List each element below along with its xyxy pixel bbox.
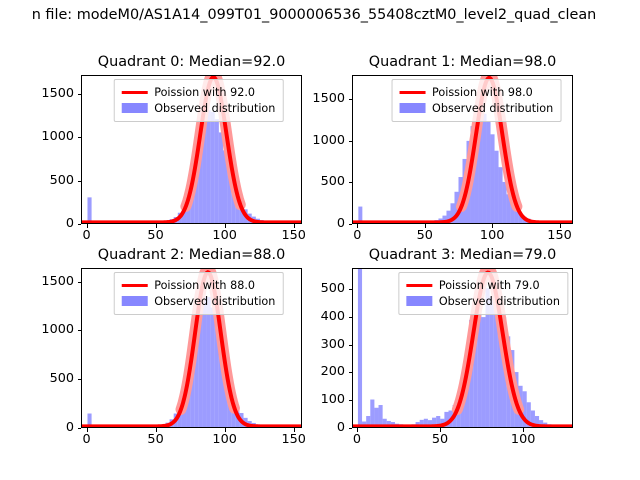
x-tick-label: 100 [480, 229, 504, 243]
histogram-bar [487, 121, 491, 223]
legend-entry-observed-0: Observed distribution [121, 100, 275, 116]
legend-patch-icon [406, 296, 432, 306]
subplot-quadrant-1: Quadrant 1: Median=98.0 Poission with 98… [352, 75, 573, 224]
x-tick-label: 100 [212, 433, 236, 447]
x-tick-label: 150 [281, 433, 305, 447]
legend-0: Poission with 92.0 Observed distribution [113, 79, 283, 122]
histogram-bar [374, 408, 378, 427]
histogram-bar [215, 119, 219, 223]
x-tick-label: 50 [147, 229, 163, 243]
y-tick-mark [78, 94, 82, 95]
y-tick-mark [349, 99, 353, 100]
legend-entry-fit-0: Poission with 92.0 [121, 84, 275, 100]
histogram-bar [211, 308, 215, 427]
y-tick-label: 0 [66, 421, 74, 435]
y-tick-label: 500 [50, 174, 74, 188]
legend-entry-observed-1: Observed distribution [399, 100, 553, 116]
y-tick-label: 0 [337, 217, 345, 231]
legend-patch-icon [121, 103, 147, 113]
histogram-bar [207, 297, 211, 427]
x-tick-mark [225, 224, 226, 228]
x-tick-label: 0 [82, 229, 90, 243]
x-tick-label: 150 [281, 229, 305, 243]
y-tick-label: 400 [321, 310, 345, 324]
x-tick-mark [156, 224, 157, 228]
legend-entry-observed-2: Observed distribution [121, 293, 275, 309]
legend-entry-fit-1: Poission with 98.0 [399, 84, 553, 100]
legend-1: Poission with 98.0 Observed distribution [391, 79, 561, 122]
y-tick-label: 1000 [312, 134, 345, 148]
x-tick-label: 0 [353, 433, 361, 447]
legend-line-icon [406, 284, 432, 287]
legend-label-observed-1: Observed distribution [432, 101, 553, 116]
subplot-quadrant-0: Quadrant 0: Median=92.0 Poission with 92… [81, 75, 302, 224]
y-tick-mark [349, 400, 353, 401]
legend-label-fit-2: Poission with 88.0 [154, 278, 255, 293]
legend-line-icon [399, 91, 425, 94]
x-tick-mark [425, 224, 426, 228]
y-tick-mark [78, 330, 82, 331]
y-tick-mark [349, 141, 353, 142]
y-tick-label: 1500 [312, 92, 345, 106]
x-tick-mark [156, 428, 157, 432]
figure-suptitle-text: n file: modeM0/AS1A14_099T01_9000006536_… [32, 6, 597, 24]
legend-label-fit-1: Poission with 98.0 [432, 85, 533, 100]
histogram-bar [379, 405, 383, 427]
x-tick-mark [87, 428, 88, 432]
histogram-bar [211, 112, 215, 223]
y-tick-mark [78, 137, 82, 138]
y-tick-mark [349, 345, 353, 346]
x-tick-mark [357, 224, 358, 228]
y-tick-mark [349, 317, 353, 318]
y-tick-label: 200 [321, 365, 345, 379]
y-tick-mark [78, 379, 82, 380]
x-tick-mark [225, 428, 226, 432]
histogram-bar [490, 296, 494, 427]
legend-line-icon [121, 91, 147, 94]
y-tick-label: 1000 [41, 130, 74, 144]
histogram-bar [202, 296, 206, 427]
histogram-bar [87, 197, 91, 223]
y-tick-mark [78, 282, 82, 283]
y-tick-label: 500 [321, 282, 345, 296]
y-tick-mark [349, 182, 353, 183]
x-tick-label: 100 [212, 229, 236, 243]
legend-label-observed-2: Observed distribution [154, 294, 275, 309]
legend-label-observed-0: Observed distribution [154, 101, 275, 116]
figure-suptitle: n file: modeM0/AS1A14_099T01_9000006536_… [0, 6, 640, 24]
legend-label-fit-0: Poission with 92.0 [154, 85, 255, 100]
histogram-bar [495, 151, 499, 223]
y-tick-mark [78, 428, 82, 429]
legend-patch-icon [121, 296, 147, 306]
legend-patch-icon [399, 103, 425, 113]
y-tick-mark [78, 181, 82, 182]
subplot-title-2: Quadrant 2: Median=88.0 [81, 247, 302, 263]
histogram-bar [219, 132, 223, 223]
y-tick-mark [349, 289, 353, 290]
axes-frame-3: Poission with 79.0 Observed distribution [352, 268, 573, 428]
legend-entry-observed-3: Observed distribution [406, 293, 560, 309]
y-tick-label: 300 [321, 338, 345, 352]
x-tick-mark [294, 224, 295, 228]
legend-entry-fit-2: Poission with 88.0 [121, 277, 275, 293]
y-tick-label: 500 [321, 175, 345, 189]
legend-entry-fit-3: Poission with 79.0 [406, 277, 560, 293]
x-tick-label: 50 [147, 433, 163, 447]
y-tick-label: 0 [66, 217, 74, 231]
y-tick-mark [349, 224, 353, 225]
histogram-bar [207, 110, 211, 223]
figure-canvas: n file: modeM0/AS1A14_099T01_9000006536_… [0, 0, 640, 480]
histogram-bar [481, 317, 485, 427]
x-tick-label: 100 [511, 433, 535, 447]
x-tick-label: 0 [82, 433, 90, 447]
legend-label-observed-3: Observed distribution [439, 294, 560, 309]
y-tick-mark [349, 372, 353, 373]
legend-2: Poission with 88.0 Observed distribution [113, 272, 283, 315]
histogram-bar [370, 400, 374, 427]
subplot-title-1: Quadrant 1: Median=98.0 [352, 54, 573, 70]
x-tick-mark [87, 224, 88, 228]
legend-3: Poission with 79.0 Observed distribution [398, 272, 568, 315]
y-tick-label: 1500 [41, 275, 74, 289]
x-tick-mark [357, 428, 358, 432]
histogram-bar [358, 269, 362, 427]
subplot-quadrant-3: Quadrant 3: Median=79.0 Poission with 79… [352, 268, 573, 428]
x-tick-label: 150 [547, 229, 571, 243]
subplot-quadrant-2: Quadrant 2: Median=88.0 Poission with 88… [81, 268, 302, 428]
axes-frame-0: Poission with 92.0 Observed distribution [81, 75, 302, 224]
axes-frame-1: Poission with 98.0 Observed distribution [352, 75, 573, 224]
y-tick-label: 100 [321, 393, 345, 407]
y-tick-label: 1000 [41, 323, 74, 337]
x-tick-mark [560, 224, 561, 228]
histogram-bar [483, 114, 487, 223]
y-tick-label: 0 [337, 421, 345, 435]
x-tick-mark [294, 428, 295, 432]
x-tick-mark [523, 428, 524, 432]
y-tick-mark [349, 428, 353, 429]
histogram-bar [503, 182, 507, 223]
x-tick-label: 0 [353, 229, 361, 243]
x-tick-mark [492, 224, 493, 228]
legend-label-fit-3: Poission with 79.0 [439, 278, 540, 293]
x-tick-label: 50 [432, 433, 448, 447]
y-tick-label: 500 [50, 372, 74, 386]
axes-frame-2: Poission with 88.0 Observed distribution [81, 268, 302, 428]
subplot-title-0: Quadrant 0: Median=92.0 [81, 54, 302, 70]
histogram-bar [499, 167, 503, 223]
histogram-bar [491, 134, 495, 223]
y-tick-mark [78, 224, 82, 225]
y-tick-label: 1500 [41, 87, 74, 101]
x-tick-label: 50 [417, 229, 433, 243]
x-tick-mark [440, 428, 441, 432]
legend-line-icon [121, 284, 147, 287]
subplot-title-3: Quadrant 3: Median=79.0 [352, 247, 573, 263]
